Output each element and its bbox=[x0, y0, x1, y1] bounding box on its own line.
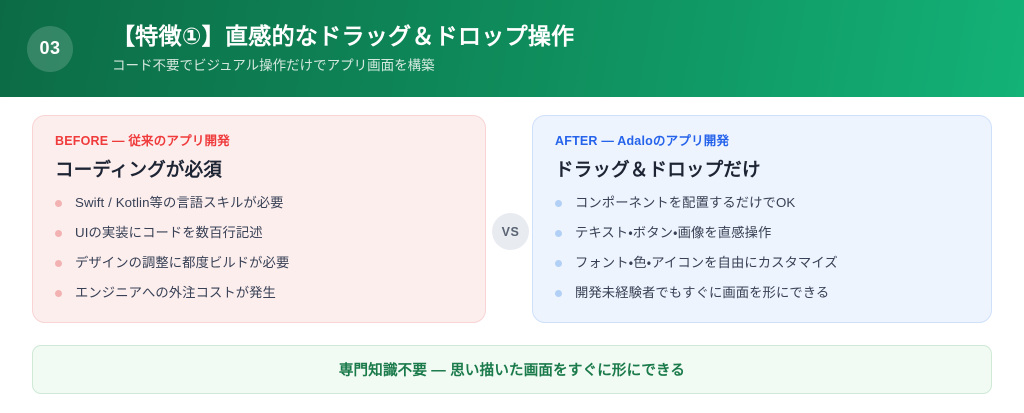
before-kicker: BEFORE — 従来のアプリ開発 bbox=[55, 134, 463, 149]
bullet-dot-icon bbox=[555, 200, 562, 207]
summary-banner: 専門知識不要 — 思い描いた画面をすぐに形にできる bbox=[32, 345, 992, 394]
list-item: Swift / Kotlin等の言語スキルが必要 bbox=[55, 195, 463, 212]
page-subtitle: コード不要でビジュアル操作だけでアプリ画面を構築 bbox=[112, 57, 574, 75]
after-heading: ドラッグ＆ドロップだけ bbox=[555, 158, 969, 181]
list-item-label: デザインの調整に都度ビルドが必要 bbox=[75, 255, 289, 272]
bullet-dot-icon bbox=[55, 200, 62, 207]
list-item: コンポーネントを配置するだけでOK bbox=[555, 195, 969, 212]
bullet-dot-icon bbox=[555, 290, 562, 297]
before-heading: コーディングが必須 bbox=[55, 158, 463, 181]
list-item: エンジニアへの外注コストが発生 bbox=[55, 285, 463, 302]
list-item: テキスト・ボタン・画像を直感操作 bbox=[555, 225, 969, 242]
list-item: UIの実装にコードを数百行記述 bbox=[55, 225, 463, 242]
summary-banner-label: 専門知識不要 — 思い描いた画面をすぐに形にできる bbox=[339, 359, 685, 380]
slide-header: 03 【特徴①】直感的なドラッグ＆ドロップ操作 コード不要でビジュアル操作だけで… bbox=[0, 0, 1024, 97]
page-title: 【特徴①】直感的なドラッグ＆ドロップ操作 bbox=[112, 22, 574, 51]
before-card: BEFORE — 従来のアプリ開発 コーディングが必須 Swift / Kotl… bbox=[32, 115, 486, 323]
list-item-label: テキスト・ボタン・画像を直感操作 bbox=[575, 225, 771, 242]
list-item-label: Swift / Kotlin等の言語スキルが必要 bbox=[75, 195, 284, 212]
vs-badge-label: VS bbox=[502, 225, 520, 239]
list-item-label: エンジニアへの外注コストが発生 bbox=[75, 285, 276, 302]
list-item: 開発未経験者でもすぐに画面を形にできる bbox=[555, 285, 969, 302]
after-bullet-list: コンポーネントを配置するだけでOK テキスト・ボタン・画像を直感操作 フォント・… bbox=[555, 195, 969, 302]
list-item: フォント・色・アイコンを自由にカスタマイズ bbox=[555, 255, 969, 272]
slide-root: 03 【特徴①】直感的なドラッグ＆ドロップ操作 コード不要でビジュアル操作だけで… bbox=[0, 0, 1024, 413]
bullet-dot-icon bbox=[55, 260, 62, 267]
bullet-dot-icon bbox=[555, 260, 562, 267]
section-number-label: 03 bbox=[39, 38, 60, 59]
list-item-label: UIの実装にコードを数百行記述 bbox=[75, 225, 263, 242]
after-kicker: AFTER — Adaloのアプリ開発 bbox=[555, 134, 969, 149]
list-item: デザインの調整に都度ビルドが必要 bbox=[55, 255, 463, 272]
comparison-area: BEFORE — 従来のアプリ開発 コーディングが必須 Swift / Kotl… bbox=[0, 97, 1024, 329]
before-bullet-list: Swift / Kotlin等の言語スキルが必要 UIの実装にコードを数百行記述… bbox=[55, 195, 463, 302]
bullet-dot-icon bbox=[55, 230, 62, 237]
header-text-group: 【特徴①】直感的なドラッグ＆ドロップ操作 コード不要でビジュアル操作だけでアプリ… bbox=[112, 22, 574, 74]
after-card: AFTER — Adaloのアプリ開発 ドラッグ＆ドロップだけ コンポーネントを… bbox=[532, 115, 992, 323]
list-item-label: 開発未経験者でもすぐに画面を形にできる bbox=[575, 285, 829, 302]
list-item-label: コンポーネントを配置するだけでOK bbox=[575, 195, 795, 212]
section-number-badge: 03 bbox=[27, 26, 73, 72]
bullet-dot-icon bbox=[55, 290, 62, 297]
vs-badge: VS bbox=[492, 213, 529, 250]
list-item-label: フォント・色・アイコンを自由にカスタマイズ bbox=[575, 255, 838, 272]
bullet-dot-icon bbox=[555, 230, 562, 237]
